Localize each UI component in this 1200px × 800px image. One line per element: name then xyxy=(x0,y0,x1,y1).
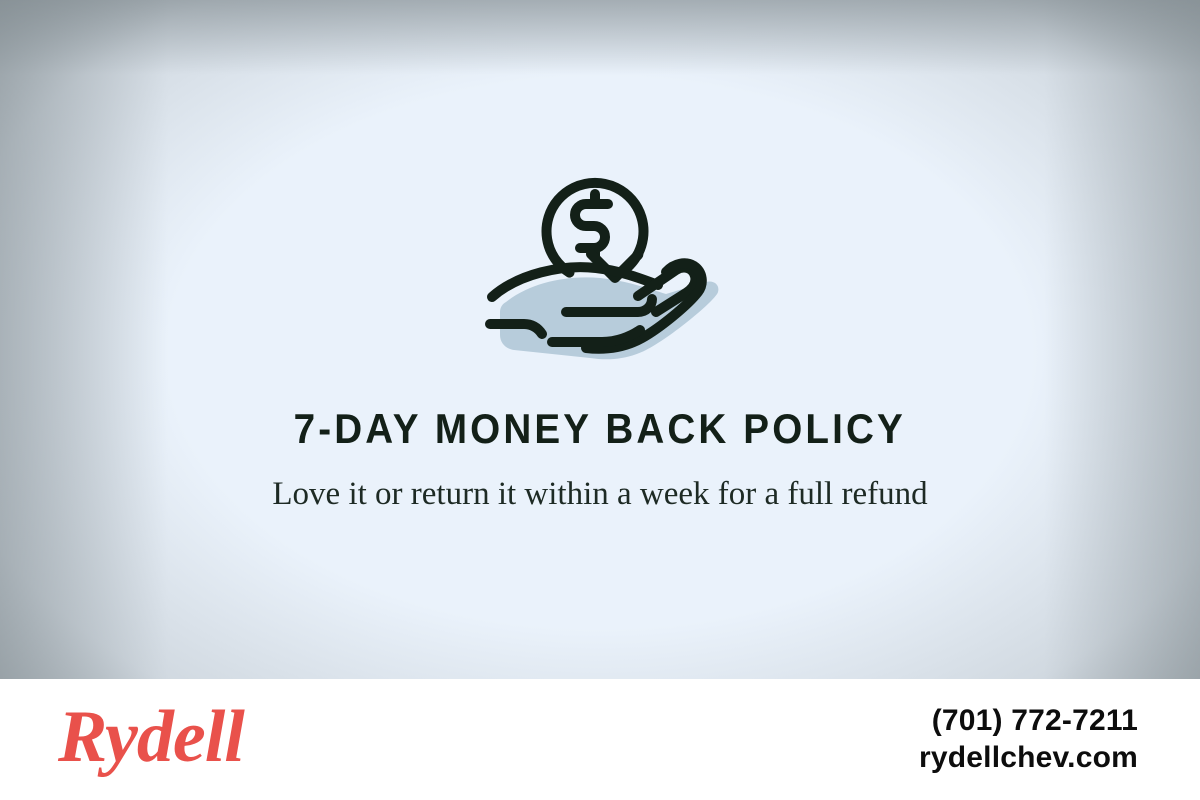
money-back-hand-icon xyxy=(470,152,730,382)
website-url[interactable]: rydellchev.com xyxy=(919,741,1138,775)
phone-number[interactable]: (701) 772-7211 xyxy=(932,704,1138,738)
footer-bar: Rydell (701) 772-7211 rydellchev.com xyxy=(0,679,1200,800)
page-subtitle: Love it or return it within a week for a… xyxy=(250,472,950,517)
promo-card: 7-DAY MONEY BACK POLICY Love it or retur… xyxy=(0,0,1200,800)
dollar-sign-glyph xyxy=(575,194,608,258)
page-title: 7-DAY MONEY BACK POLICY xyxy=(294,408,906,450)
rydell-logo[interactable]: Rydell xyxy=(58,700,244,774)
contact-block: (701) 772-7211 rydellchev.com xyxy=(919,704,1138,774)
hero-section: 7-DAY MONEY BACK POLICY Love it or retur… xyxy=(0,0,1200,679)
hero-content: 7-DAY MONEY BACK POLICY Love it or retur… xyxy=(0,0,1200,679)
